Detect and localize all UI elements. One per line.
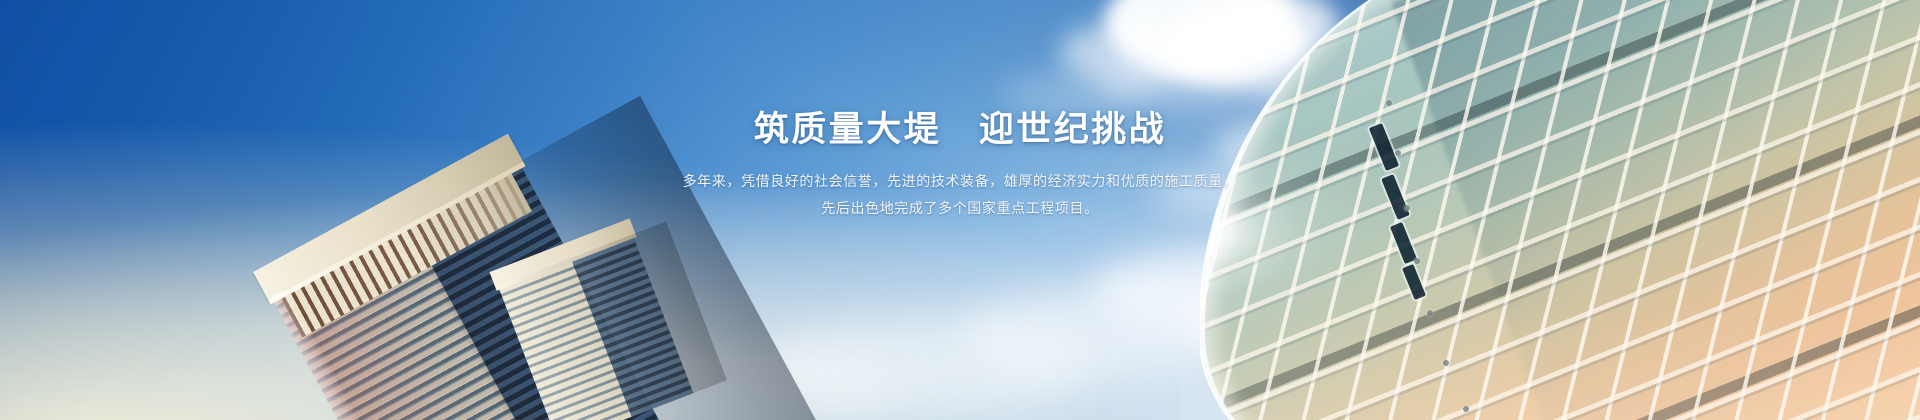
cloud-icon (1000, 74, 1150, 114)
facade-fixing-dot-icon (1386, 100, 1392, 106)
facade-fixing-dot-icon (1414, 258, 1420, 264)
facade-fixing-dot-icon (1443, 360, 1449, 366)
facade-fixing-dot-icon (1463, 406, 1469, 412)
tower-right-atmospheric-veil (1180, 300, 1920, 420)
facade-fixing-dot-icon (1427, 310, 1433, 316)
facade-fixing-dot-icon (1395, 150, 1401, 156)
facade-fixing-dot-icon (1404, 205, 1410, 211)
hero-banner: 筑质量大堤 迎世纪挑战 多年来，凭借良好的社会信誉，先进的技术装备，雄厚的经济实… (0, 0, 1920, 420)
